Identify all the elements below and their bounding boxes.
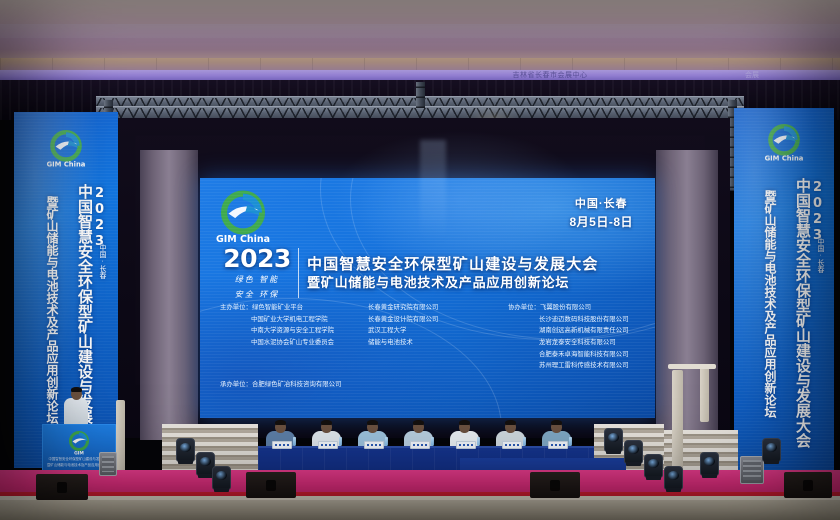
stage-monitor-center-left <box>246 472 296 498</box>
floor-moving-head-light <box>664 466 683 490</box>
gim-logo-left-banner: GIM China <box>46 128 86 170</box>
participant-nameplate <box>456 441 476 449</box>
participant-nameplate <box>364 441 384 449</box>
participant-hair <box>505 420 516 425</box>
floor-moving-head-light <box>604 428 623 452</box>
truss-upright-center <box>416 82 425 108</box>
svg-text:GIM China: GIM China <box>47 161 86 169</box>
equipment-case-left <box>99 452 117 476</box>
balustrade-right <box>672 370 683 480</box>
stage-pillar-left <box>140 150 198 440</box>
side-banner-right-year: 2023 <box>811 180 824 244</box>
svg-text:GIM: GIM <box>74 451 84 457</box>
floor-moving-head-light <box>176 438 195 462</box>
water-bottle <box>431 437 434 446</box>
screen-scanline-overlay <box>200 178 655 418</box>
stage-monitor-center-right <box>530 472 580 498</box>
floor-moving-head-light <box>700 452 719 476</box>
participant-nameplate <box>318 441 338 449</box>
participant-nameplate <box>502 441 522 449</box>
balustrade-right2 <box>700 366 709 422</box>
participant-nameplate <box>272 441 292 449</box>
water-bottle <box>339 437 342 446</box>
svg-text:GIM China: GIM China <box>765 155 804 163</box>
speaker-hair <box>71 387 82 392</box>
floor-moving-head-light <box>762 438 781 462</box>
side-banner-right-title-main: 中国智慧安全环保型矿山建设与发展大会 <box>795 178 810 448</box>
floor-moving-head-light <box>624 440 643 464</box>
gim-logo-podium: GIM <box>66 430 92 456</box>
gim-logo-right-banner: GIM China <box>764 122 804 164</box>
participant-hair <box>275 420 286 425</box>
water-bottle <box>385 437 388 446</box>
stage-monitor-left <box>36 474 88 500</box>
water-bottle <box>293 437 296 446</box>
floor-moving-head-light <box>212 466 231 490</box>
participant-nameplate <box>548 441 568 449</box>
main-led-screen: GIM China 中国·长春 8月5日-8日 2023 绿色 智能 安全 环保… <box>200 178 655 418</box>
water-bottle <box>569 437 572 446</box>
participant-hair <box>321 420 332 425</box>
side-banner-left-year: 2023 <box>93 186 106 250</box>
side-banner-right: GIM China 2023 中国·长春 中国智慧安全环保型矿山建设与发展大会 … <box>734 108 834 470</box>
participant-hair <box>551 420 562 425</box>
ceiling-light-band <box>0 24 840 38</box>
water-bottle <box>477 437 480 446</box>
participant-hair <box>459 420 470 425</box>
equipment-case-right <box>740 456 764 484</box>
side-banner-right-location: 中国·长春 <box>817 238 824 273</box>
stage-monitor-right <box>784 472 832 498</box>
balustrade-rail-right <box>668 364 716 369</box>
floor-moving-head-light <box>644 454 663 478</box>
side-banner-left-location: 中国·长春 <box>99 244 106 279</box>
side-banner-left-title-sub: 暨矿山储能与电池技术及产品应用创新论坛 <box>46 196 58 424</box>
participant-nameplate <box>410 441 430 449</box>
participant-hair <box>367 420 378 425</box>
water-bottle <box>523 437 526 446</box>
stage-apron-edge <box>0 496 840 500</box>
conference-stage-photo: 吉林省长春市会展中心 会展 GIM China 2023 中国·长春 中国智慧安… <box>0 0 840 520</box>
side-banner-right-title-sub: 暨矿山储能与电池技术及产品应用创新论坛 <box>764 190 776 418</box>
participant-hair <box>413 420 424 425</box>
